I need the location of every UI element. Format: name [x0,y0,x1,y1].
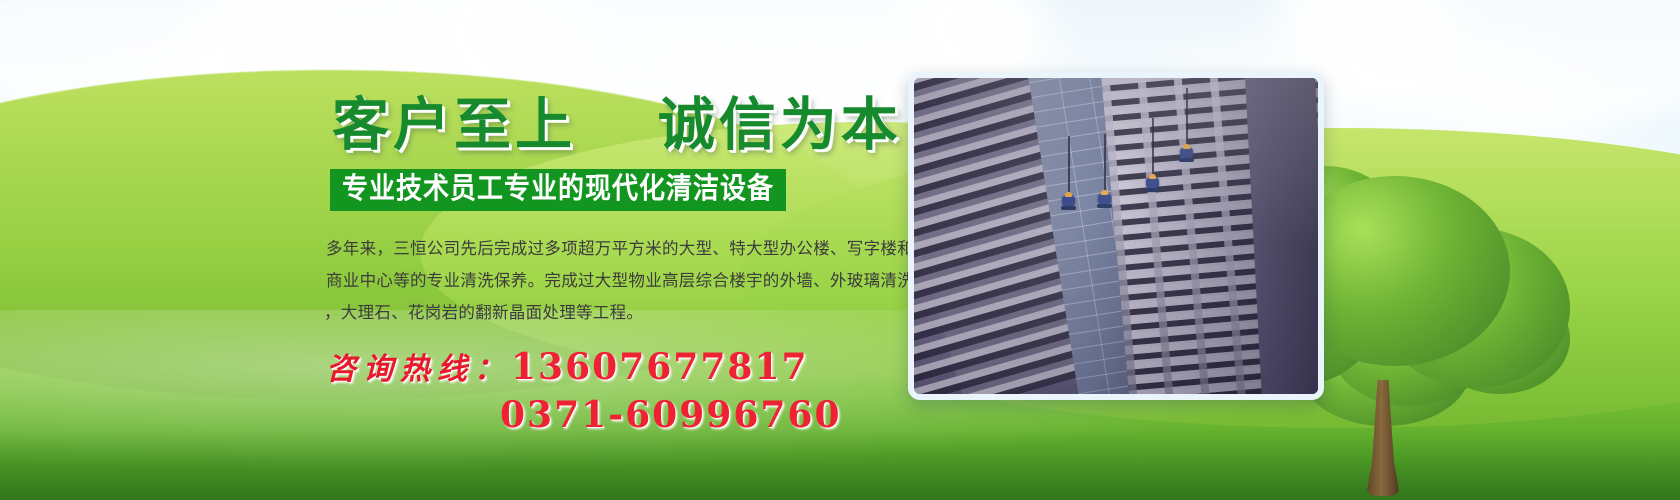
hotline-label: 咨询热线： [326,352,511,387]
photo-vignette [914,78,1318,394]
description-line: ，大理石、花岗岩的翻新晶面处理等工程。 [326,297,902,329]
headline-part-left: 客户至上 [332,91,576,158]
building-photo-frame [908,72,1324,400]
hotline-number-secondary[interactable]: 0371-60996760 [500,394,902,436]
headline-part-right: 诚信为本 [658,91,902,158]
hotline-number-primary[interactable]: 13607677817 [511,346,809,388]
hero-banner: 客户至上 诚信为本 专业技术员工专业的现代化清洁设备 多年来，三恒公司先后完成过… [0,0,1680,500]
description-line: 多年来，三恒公司先后完成过多项超万平方米的大型、特大型办公楼、写字楼和 [326,233,902,265]
building-photo [914,78,1318,394]
description-line: 商业中心等的专业清洗保养。完成过大型物业高层综合楼宇的外墙、外玻璃清洗 [326,265,902,297]
banner-copy: 客户至上 诚信为本 专业技术员工专业的现代化清洁设备 多年来，三恒公司先后完成过… [322,96,902,436]
subtitle-bar: 专业技术员工专业的现代化清洁设备 [330,169,786,211]
description-paragraph: 多年来，三恒公司先后完成过多项超万平方米的大型、特大型办公楼、写字楼和 商业中心… [326,233,902,330]
subtitle-text: 专业技术员工专业的现代化清洁设备 [342,173,774,204]
page-title: 客户至上 诚信为本 [332,96,902,153]
hotline-block: 咨询热线：13607677817 0371-60996760 [326,344,902,436]
